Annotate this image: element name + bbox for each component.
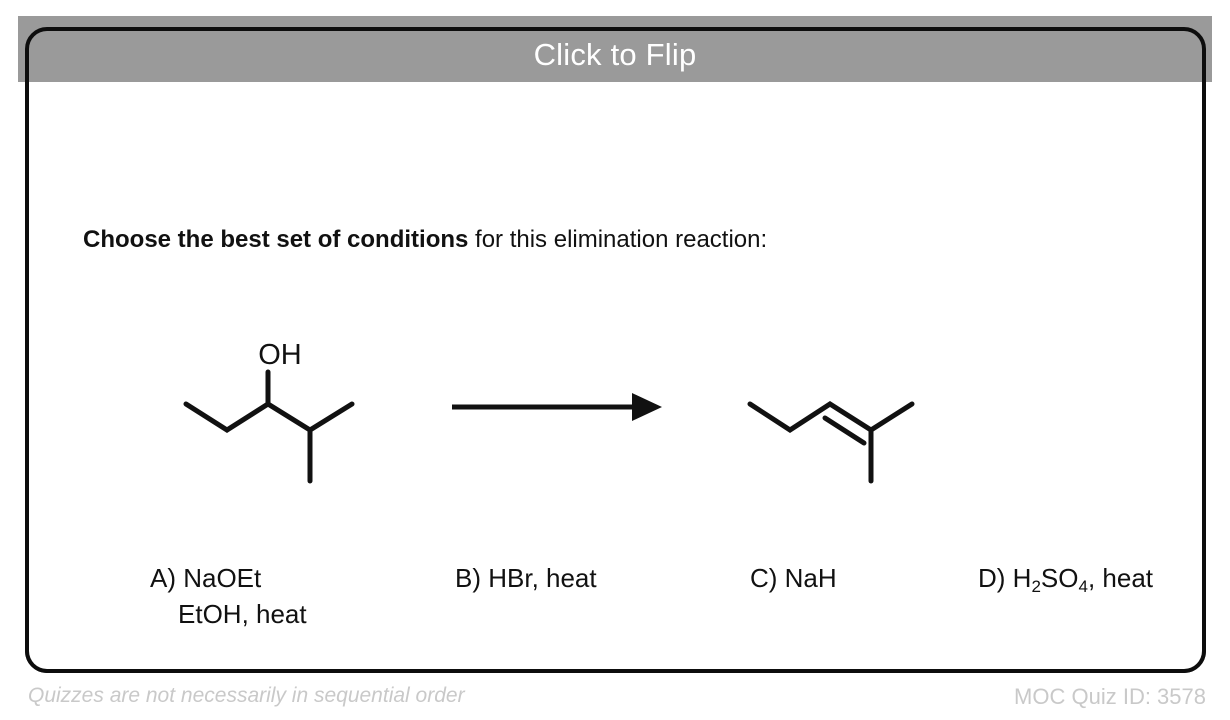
option-d-subscript-2: 2 [1031, 577, 1040, 596]
question-prompt: Choose the best set of conditions for th… [83, 226, 767, 254]
option-b-line1: B) HBr, heat [455, 563, 597, 593]
question-prompt-bold: Choose the best set of conditions [83, 226, 468, 253]
option-d-prefix: D) H [978, 563, 1031, 593]
option-b[interactable]: B) HBr, heat [455, 560, 597, 596]
option-d[interactable]: D) H2SO4, heat [978, 560, 1153, 605]
option-a-line2: EtOH, heat [150, 596, 307, 632]
option-d-mid: SO [1041, 563, 1079, 593]
option-d-suffix: , heat [1088, 563, 1153, 593]
option-c[interactable]: C) NaH [750, 560, 837, 596]
option-c-line1: C) NaH [750, 563, 837, 593]
question-prompt-rest: for this elimination reaction: [468, 226, 767, 253]
quiz-id-label: MOC Quiz ID: 3578 [1014, 684, 1206, 710]
option-a[interactable]: A) NaOEt EtOH, heat [150, 560, 307, 632]
sequence-note: Quizzes are not necessarily in sequentia… [28, 684, 465, 708]
option-a-line1: A) NaOEt [150, 563, 261, 593]
click-to-flip-title[interactable]: Click to Flip [0, 27, 1230, 82]
option-d-subscript-4: 4 [1078, 577, 1087, 596]
